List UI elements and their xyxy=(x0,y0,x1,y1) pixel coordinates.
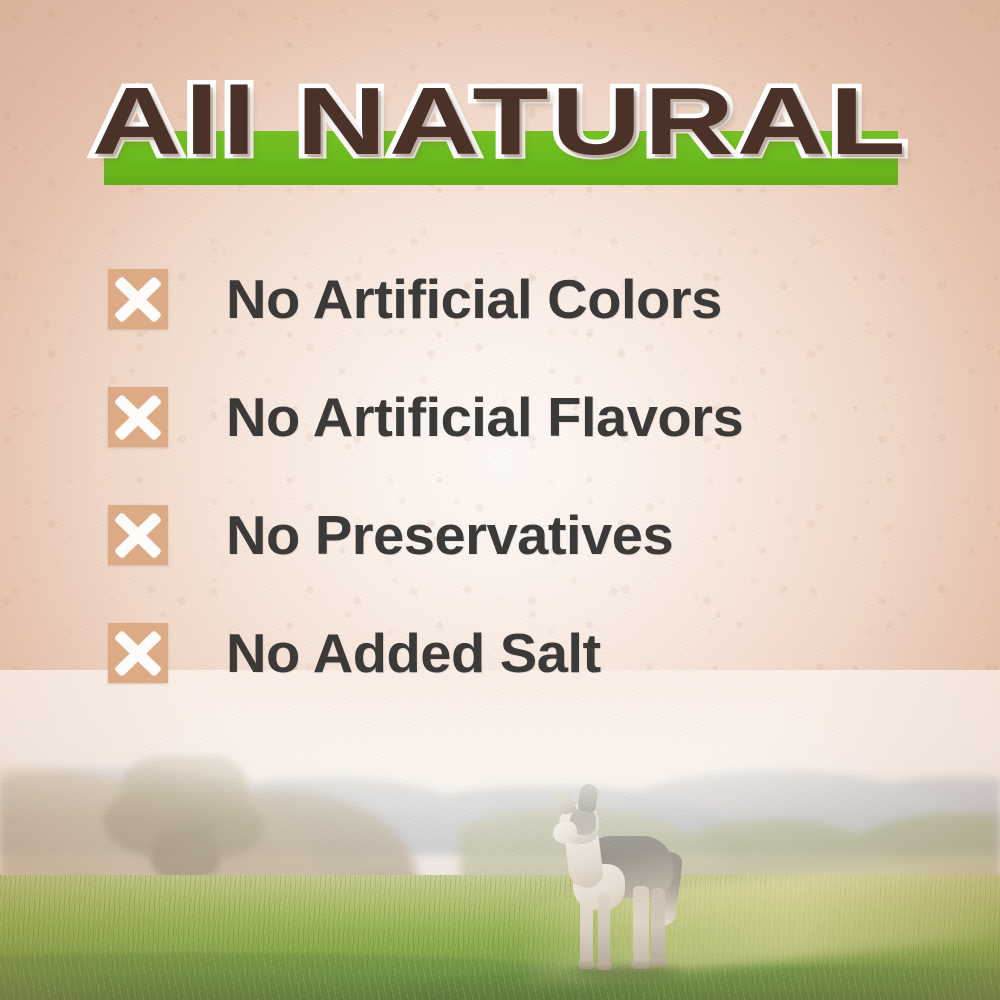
claims-list: No Artificial Colors No Artificial Flavo… xyxy=(108,261,928,691)
claim-label: No Added Salt xyxy=(226,623,601,683)
x-mark-icon xyxy=(108,269,168,329)
claim-row: No Added Salt xyxy=(108,615,928,691)
claim-row: No Artificial Flavors xyxy=(108,379,928,455)
claim-label: No Artificial Colors xyxy=(226,269,722,329)
poster-canvas: All NATURAL No Artificial Colors No Arti… xyxy=(0,0,1000,1000)
x-mark-icon xyxy=(108,623,168,683)
claim-row: No Artificial Colors xyxy=(108,261,928,337)
claim-label: No Preservatives xyxy=(226,505,673,565)
x-mark-icon xyxy=(108,387,168,447)
x-mark-icon xyxy=(108,505,168,565)
claim-row: No Preservatives xyxy=(108,497,928,573)
claim-label: No Artificial Flavors xyxy=(226,387,743,447)
headline-text: All NATURAL xyxy=(0,70,1000,174)
headline-block: All NATURAL xyxy=(0,70,1000,188)
